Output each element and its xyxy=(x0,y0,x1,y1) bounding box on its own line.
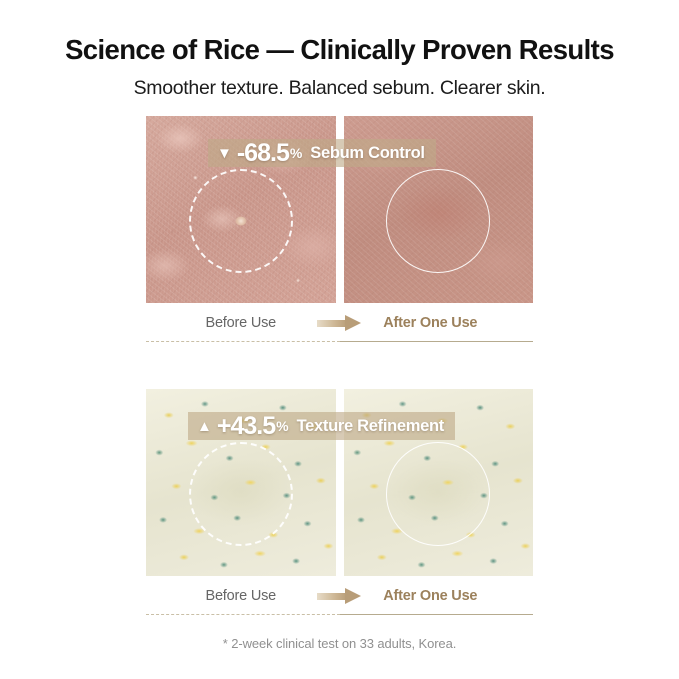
zoom-circle-solid xyxy=(386,169,490,273)
arrow-head xyxy=(345,588,361,604)
divider-dashed-half xyxy=(146,614,340,615)
stat-unit: % xyxy=(276,419,288,433)
after-caption: After One Use xyxy=(336,588,526,604)
divider-solid-half xyxy=(340,341,534,342)
triangle-up-icon: ▲ xyxy=(197,419,212,434)
comparison-block-sebum: ▼ -68.5 % Sebum Control Before Use After… xyxy=(146,116,533,342)
comparison-block-texture: ▲ +43.5 % Texture Refinement Before Use … xyxy=(146,389,533,615)
stat-label: Sebum Control xyxy=(310,145,424,162)
before-caption: Before Use xyxy=(146,588,336,604)
stat-unit: % xyxy=(290,146,302,160)
section-divider xyxy=(146,341,533,342)
stat-label: Texture Refinement xyxy=(297,418,444,435)
promo-page: Science of Rice — Clinically Proven Resu… xyxy=(0,0,679,679)
before-caption: Before Use xyxy=(146,315,336,331)
arrow-shaft xyxy=(317,593,347,600)
after-caption: After One Use xyxy=(336,315,526,331)
divider-dashed-half xyxy=(146,341,340,342)
page-title: Science of Rice — Clinically Proven Resu… xyxy=(0,34,679,66)
arrow-head xyxy=(345,315,361,331)
triangle-down-icon: ▼ xyxy=(217,146,232,161)
footnote: * 2-week clinical test on 33 adults, Kor… xyxy=(0,636,679,651)
caption-row: Before Use After One Use xyxy=(146,305,533,341)
page-subtitle: Smoother texture. Balanced sebum. Cleare… xyxy=(0,77,679,100)
right-arrow-icon xyxy=(317,588,363,604)
section-divider xyxy=(146,614,533,615)
right-arrow-icon xyxy=(317,315,363,331)
zoom-circle-solid xyxy=(386,442,490,546)
zoom-circle-dashed xyxy=(189,442,293,546)
divider-solid-half xyxy=(340,614,534,615)
image-pair: ▼ -68.5 % Sebum Control xyxy=(146,116,533,303)
stat-value: -68.5 xyxy=(237,141,289,166)
stat-value: +43.5 xyxy=(217,414,275,439)
header: Science of Rice — Clinically Proven Resu… xyxy=(0,0,679,100)
stat-badge-texture: ▲ +43.5 % Texture Refinement xyxy=(188,412,455,440)
caption-row: Before Use After One Use xyxy=(146,578,533,614)
arrow-shaft xyxy=(317,320,347,327)
stat-badge-sebum: ▼ -68.5 % Sebum Control xyxy=(208,139,436,167)
image-pair: ▲ +43.5 % Texture Refinement xyxy=(146,389,533,576)
blemish-spot xyxy=(235,216,246,225)
zoom-circle-dashed xyxy=(189,169,293,273)
